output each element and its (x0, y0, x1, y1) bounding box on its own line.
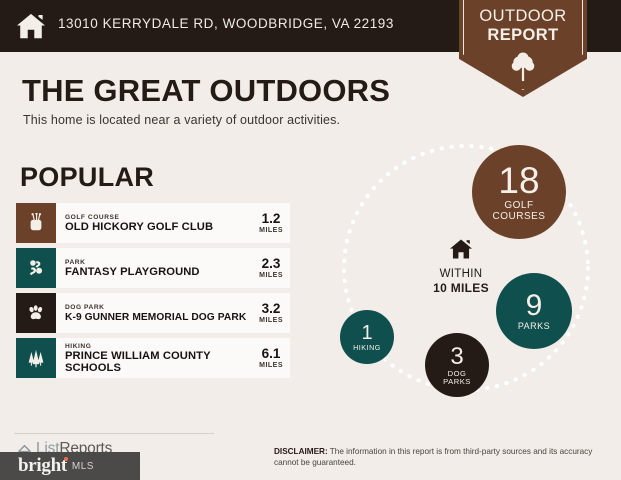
list-item-name: OLD HICKORY GOLF CLUB (65, 222, 213, 234)
list-item-distance: 3.2 MILES (254, 302, 283, 325)
stat-count: 1 (361, 323, 372, 343)
list-item-texts: HIKING PRINCE WILLIAM COUNTY SCHOOLS (65, 342, 215, 374)
list-item-body: GOLF COURSE OLD HICKORY GOLF CLUB 1.2 MI… (56, 203, 290, 243)
list-item-icon-tile (16, 203, 56, 243)
stat-circle-golf-courses[interactable]: 18 GOLF COURSES (472, 145, 566, 239)
popular-heading: POPULAR (20, 162, 154, 193)
list-item-name: FANTASY PLAYGROUND (65, 267, 200, 279)
badge-line-2: REPORT (459, 26, 587, 45)
badge-line-1: OUTDOOR (459, 7, 587, 26)
disclaimer: DISCLAIMER: The information in this repo… (274, 446, 600, 468)
list-item[interactable]: GOLF COURSE OLD HICKORY GOLF CLUB 1.2 MI… (16, 203, 290, 243)
badge-title: OUTDOOR REPORT (459, 7, 587, 45)
list-item-category: DOG PARK (65, 303, 246, 312)
list-item[interactable]: DOG PARK K-9 GUNNER MEMORIAL DOG PARK 3.… (16, 293, 290, 333)
list-item-name: PRINCE WILLIAM COUNTY SCHOOLS (65, 351, 215, 374)
stat-label: GOLF COURSES (488, 201, 550, 222)
list-item-texts: DOG PARK K-9 GUNNER MEMORIAL DOG PARK (65, 303, 246, 324)
stat-circle-parks[interactable]: 9 PARKS (496, 273, 572, 349)
house-icon (449, 238, 473, 260)
list-item-distance: 6.1 MILES (254, 347, 283, 370)
stat-label: DOG PARKS (440, 370, 474, 386)
stat-count: 3 (450, 345, 463, 369)
stat-count: 18 (498, 162, 539, 199)
list-item-body: HIKING PRINCE WILLIAM COUNTY SCHOOLS 6.1… (56, 338, 290, 378)
diagram-center-line-2: 10 MILES (416, 281, 506, 295)
stat-label: HIKING (353, 344, 381, 352)
list-item-icon-tile (16, 338, 56, 378)
property-address: 13010 KERRYDALE RD, WOODBRIDGE, VA 22193 (58, 16, 394, 31)
list-item-distance: 1.2 MILES (254, 212, 283, 235)
tree-icon (509, 52, 537, 82)
list-item-distance-value: 1.2 (259, 212, 283, 226)
list-item-texts: GOLF COURSE OLD HICKORY GOLF CLUB (65, 213, 213, 234)
trees-icon (26, 348, 46, 368)
list-item-name: K-9 GUNNER MEMORIAL DOG PARK (65, 312, 246, 324)
list-item-body: DOG PARK K-9 GUNNER MEMORIAL DOG PARK 3.… (56, 293, 290, 333)
disclaimer-label: DISCLAIMER: (274, 447, 328, 456)
stat-label: PARKS (518, 322, 550, 331)
page-title: THE GREAT OUTDOORS (22, 73, 390, 109)
list-item-icon-tile (16, 293, 56, 333)
stat-circle-dog-parks[interactable]: 3 DOG PARKS (425, 333, 489, 397)
list-item-texts: PARK FANTASY PLAYGROUND (65, 258, 200, 279)
house-icon (16, 11, 46, 41)
list-item-distance-value: 2.3 (259, 257, 283, 271)
bright-mls-logo[interactable]: bright MLS (0, 452, 140, 480)
list-item-body: PARK FANTASY PLAYGROUND 2.3 MILES (56, 248, 290, 288)
paw-icon (26, 303, 46, 323)
bright-mls-suffix: MLS (72, 461, 94, 472)
stat-circle-hiking[interactable]: 1 HIKING (340, 310, 394, 364)
list-item-distance-unit: MILES (259, 361, 283, 370)
popular-list: GOLF COURSE OLD HICKORY GOLF CLUB 1.2 MI… (16, 203, 290, 383)
within-10-miles-diagram: 18 GOLF COURSES 9 PARKS 3 DOG PARKS 1 HI… (320, 140, 610, 425)
diagram-center: WITHIN 10 MILES (416, 238, 506, 295)
bright-wordmark: bright (18, 455, 67, 477)
list-item-icon-tile (16, 248, 56, 288)
list-item[interactable]: PARK FANTASY PLAYGROUND 2.3 MILES (16, 248, 290, 288)
diagram-center-line-1: WITHIN (416, 268, 506, 281)
stat-count: 9 (526, 291, 543, 321)
list-item-distance-unit: MILES (259, 226, 283, 235)
golf-bag-icon (26, 213, 46, 233)
page-subtitle: This home is located near a variety of o… (23, 113, 340, 127)
list-item-distance-value: 3.2 (259, 302, 283, 316)
list-item-distance-unit: MILES (259, 271, 283, 280)
list-item-distance-unit: MILES (259, 316, 283, 325)
list-item[interactable]: HIKING PRINCE WILLIAM COUNTY SCHOOLS 6.1… (16, 338, 290, 378)
outdoor-report-page: 13010 KERRYDALE RD, WOODBRIDGE, VA 22193… (0, 0, 621, 480)
playground-icon (26, 258, 46, 278)
list-item-distance: 2.3 MILES (254, 257, 283, 280)
footer-divider (14, 433, 214, 434)
bright-dot-icon (64, 457, 68, 461)
list-item-distance-value: 6.1 (259, 347, 283, 361)
outdoor-report-badge: OUTDOOR REPORT (459, 0, 587, 97)
